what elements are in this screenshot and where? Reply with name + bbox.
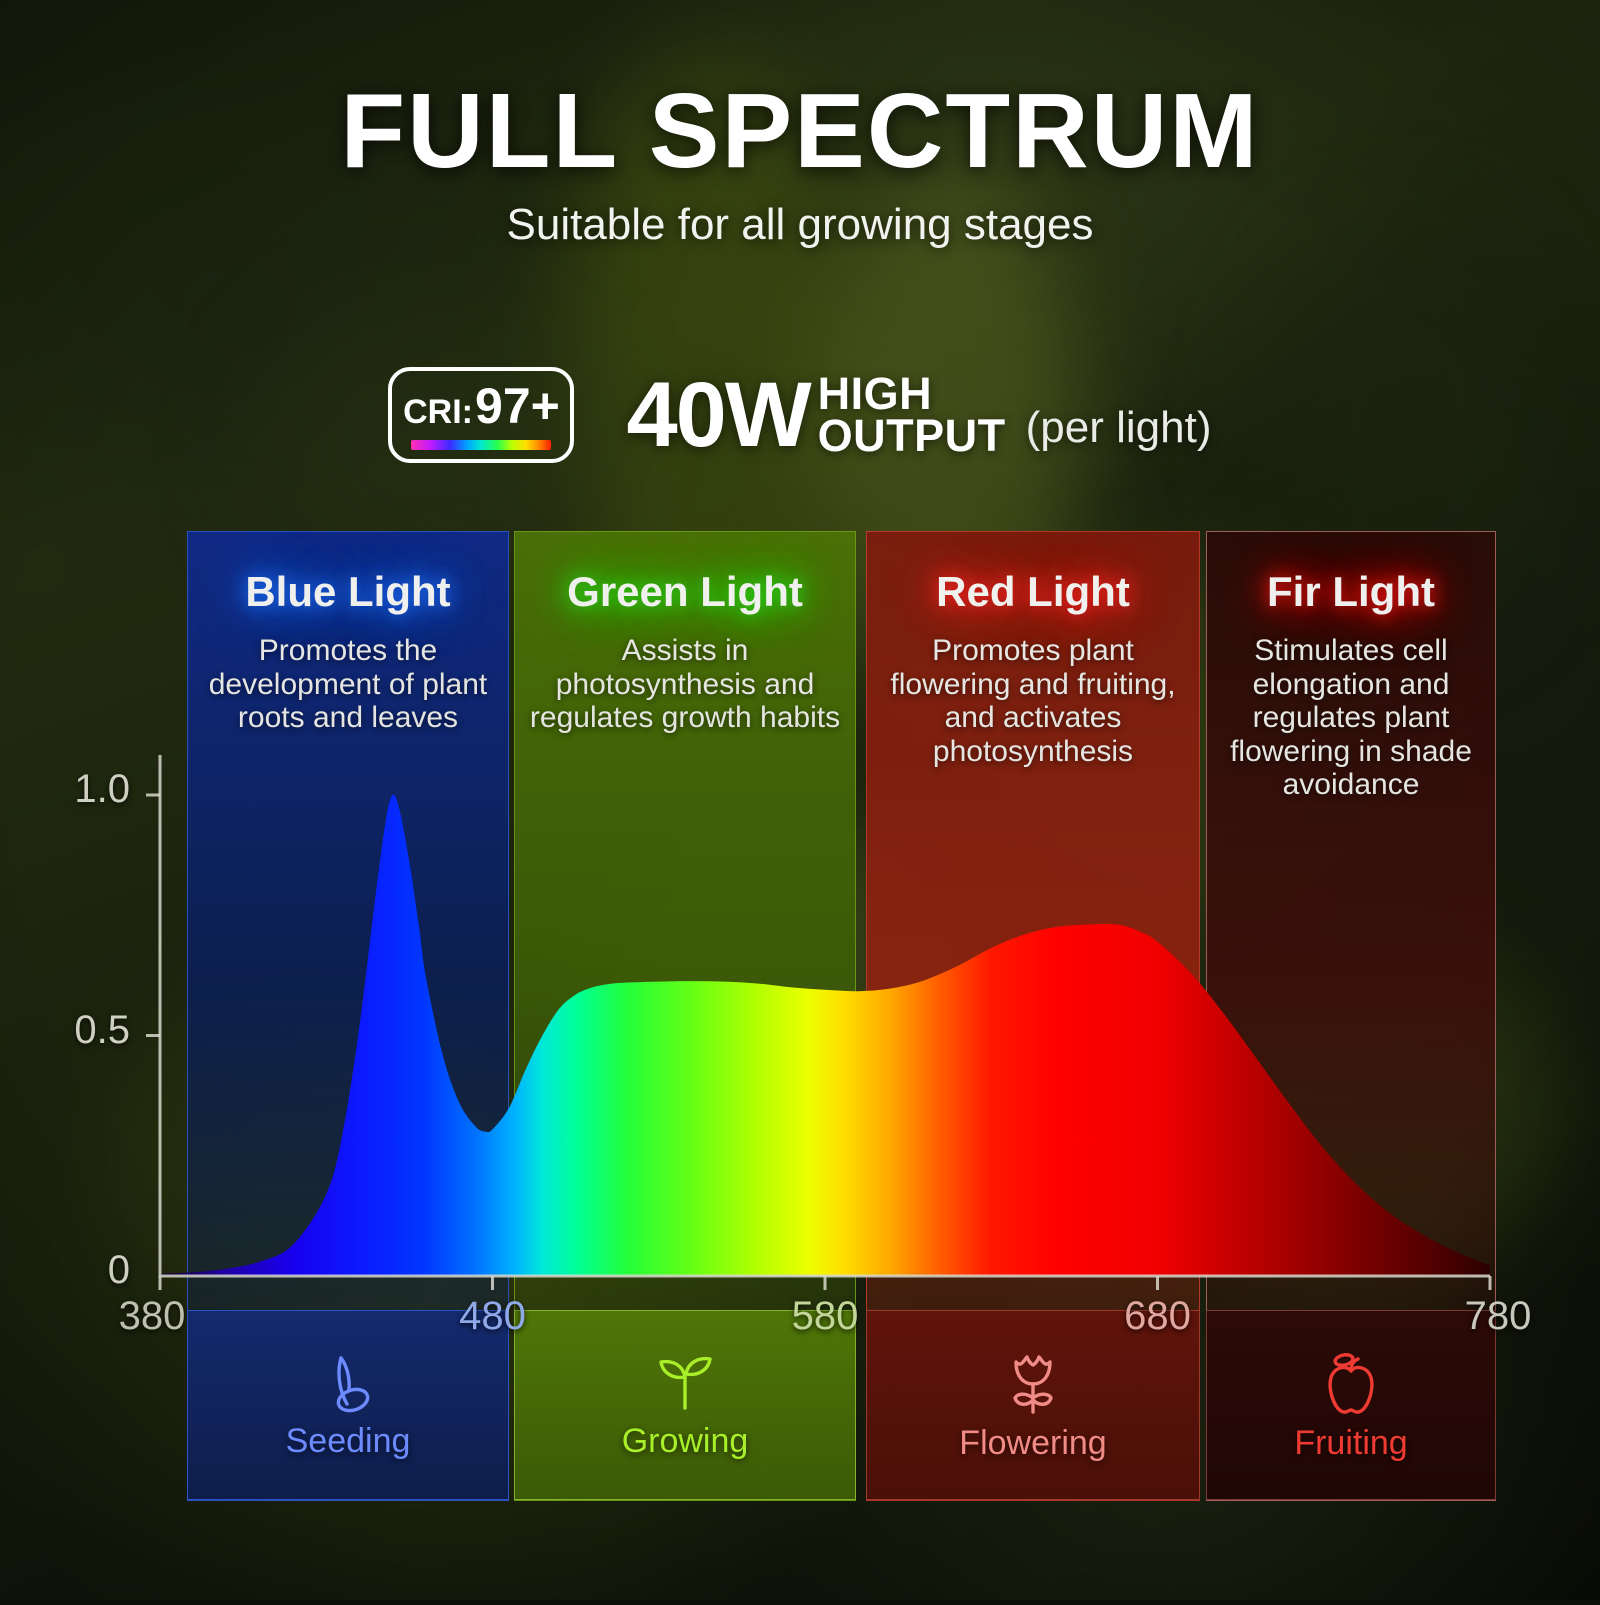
x-axis-label: 580 bbox=[755, 1294, 895, 1339]
x-axis-label: 680 bbox=[1088, 1294, 1228, 1339]
x-axis-label: 480 bbox=[423, 1294, 563, 1339]
spectrum-area bbox=[160, 795, 1490, 1276]
x-axis-label: 780 bbox=[1428, 1294, 1568, 1339]
x-axis-label: 380 bbox=[82, 1294, 222, 1339]
y-axis-label: 0.5 bbox=[20, 1008, 130, 1053]
y-axis-label: 0 bbox=[20, 1248, 130, 1293]
spectrum-chart: 1.00.50380480580680780 bbox=[0, 0, 1600, 1600]
spectrum-curve bbox=[0, 0, 1600, 1600]
y-axis-label: 1.0 bbox=[20, 767, 130, 812]
